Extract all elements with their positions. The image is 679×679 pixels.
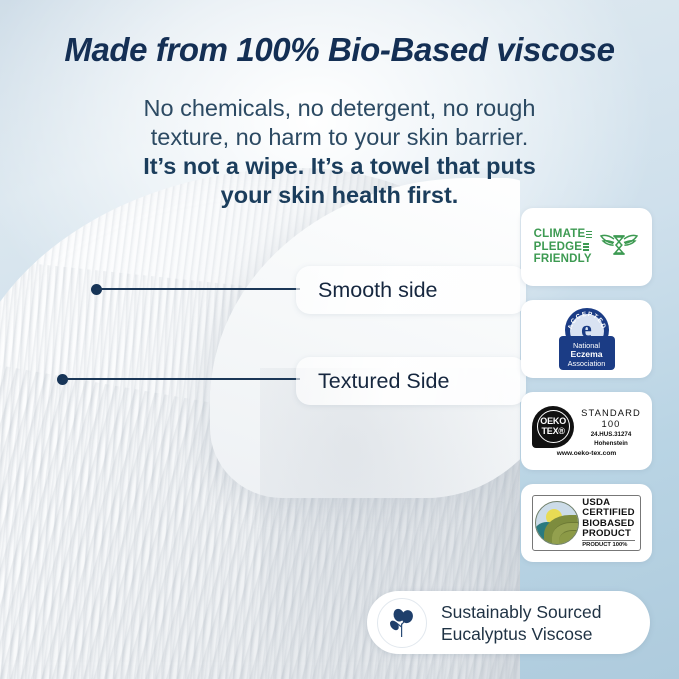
climate-pledge-bars-icon (586, 231, 592, 239)
subheadline-line-1: No chemicals, no detergent, no rough (0, 94, 679, 123)
sun-field-circle-icon (535, 501, 579, 545)
eucalyptus-pill-text: Sustainably Sourced Eucalyptus Viscose (441, 601, 602, 645)
badge-oeko-tex-standard-100: OEKO TEX® STANDARD 100 24.HUS.31274 Hohe… (521, 392, 652, 470)
eczema-seal-icon: e ACCEPTED National Eczema Association (559, 308, 615, 370)
winged-hourglass-icon (599, 229, 639, 266)
oeko-standard-number: 100 (581, 418, 641, 429)
eczema-line-2: Eczema (559, 350, 615, 359)
badge-usda-certified-biobased: USDA CERTIFIED BIOBASED PRODUCT PRODUCT … (521, 484, 652, 562)
eucalyptus-leaf-icon (377, 598, 427, 648)
climate-pledge-line-3: FRIENDLY (534, 253, 593, 266)
eucalyptus-line-1: Sustainably Sourced (441, 601, 602, 623)
callout-smooth-side: Smooth side (296, 266, 526, 314)
eczema-line-3: Association (559, 359, 615, 368)
climate-pledge-text: CLIMATE PLEDGE FRIENDLY (534, 228, 593, 266)
usda-line-4: PRODUCT (582, 529, 634, 539)
textured-side-leader-line (62, 378, 300, 380)
product-infographic: Made from 100% Bio-Based viscose No chem… (0, 0, 679, 679)
usda-sub-label: PRODUCT 100% (582, 540, 634, 548)
oeko-url: www.oeko-tex.com (557, 450, 616, 457)
callout-textured-side-label: Textured Side (318, 369, 449, 394)
climate-pledge-line-1: CLIMATE (534, 228, 586, 241)
smooth-side-leader-line (96, 288, 300, 290)
oeko-certificate-code: 24.HUS.31274 (581, 431, 641, 438)
subheadline: No chemicals, no detergent, no rough tex… (0, 94, 679, 210)
oeko-standard-label: STANDARD (581, 407, 641, 418)
badge-climate-pledge-friendly: CLIMATE PLEDGE FRIENDLY (521, 208, 652, 286)
climate-pledge-bars-icon-2 (583, 243, 589, 251)
oeko-tex-mark-icon: OEKO TEX® (532, 406, 574, 448)
oeko-institute: Hohenstein (581, 440, 641, 447)
eucalyptus-line-2: Eucalyptus Viscose (441, 623, 602, 645)
headline: Made from 100% Bio-Based viscose (0, 31, 679, 69)
badge-national-eczema-association: e ACCEPTED National Eczema Association (521, 300, 652, 378)
svg-text:ACCEPTED: ACCEPTED (566, 311, 606, 330)
subheadline-line-2: texture, no harm to your skin barrier. (0, 123, 679, 152)
eczema-accepted-arc: ACCEPTED (566, 311, 606, 330)
callout-smooth-side-label: Smooth side (318, 278, 438, 303)
oeko-tex-mark-line-2: TEX® (541, 427, 564, 437)
callout-textured-side: Textured Side (296, 357, 526, 405)
subheadline-line-4: your skin health first. (0, 181, 679, 210)
usda-line-2: CERTIFIED (582, 508, 634, 518)
eczema-plate: National Eczema Association (559, 336, 615, 370)
eucalyptus-pill: Sustainably Sourced Eucalyptus Viscose (367, 591, 650, 654)
subheadline-line-3: It’s not a wipe. It’s a towel that puts (0, 152, 679, 181)
climate-pledge-line-2: PLEDGE (534, 241, 583, 254)
